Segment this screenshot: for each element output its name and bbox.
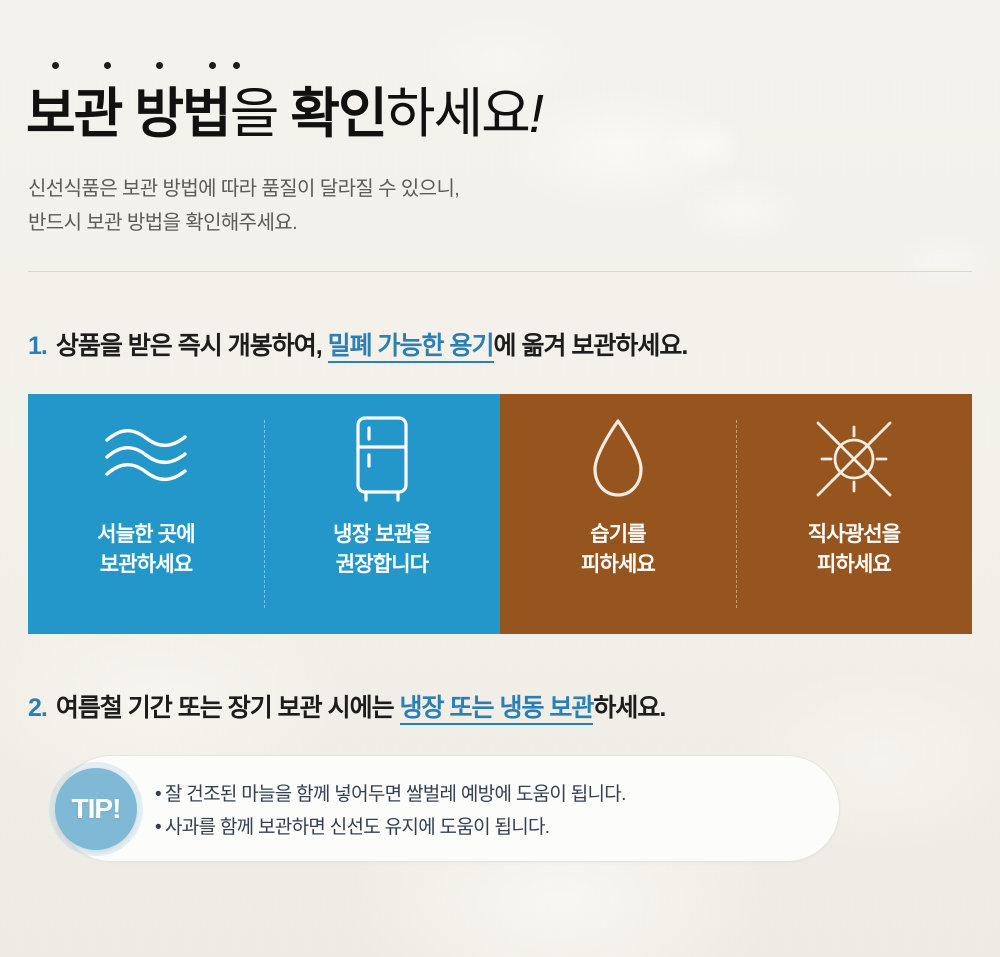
- step-2-highlight: 냉장 또는 냉동 보관: [400, 694, 594, 725]
- panel-avoid-humidity-label: 습기를 피하세요: [581, 520, 655, 580]
- panel-cool-place: 서늘한 곳에 보관하세요: [28, 394, 264, 634]
- tip-list-item: •사과를 함께 보관하면 신선도 유지에 도움이 됩니다.: [155, 811, 626, 844]
- decor-dot: [52, 62, 59, 69]
- refrigerator-icon: [350, 398, 414, 520]
- tip-item-text: 잘 건조된 마늘을 함께 넣어두면 쌀벌레 예방에 도움이 됩니다.: [165, 784, 626, 805]
- panel-refrigerate: 냉장 보관을 권장합니다: [264, 394, 500, 634]
- step-2-number: 2.: [28, 694, 47, 722]
- tip-badge-label: TIP!: [72, 793, 121, 825]
- panel-label-line-1: 서늘한 곳에: [97, 520, 195, 550]
- panel-label-line-1: 직사광선을: [808, 520, 901, 550]
- page-title-part-3: 확인: [290, 84, 385, 144]
- page-subtitle: 신선식품은 보관 방법에 따라 품질이 달라질 수 있으니, 반드시 보관 방법…: [28, 172, 459, 240]
- step-1: 1.상품을 받은 즉시 개봉하여, 밀폐 가능한 용기에 옮겨 보관하세요.: [28, 326, 687, 362]
- bullet-icon: •: [155, 784, 161, 805]
- panel-cool-place-label: 서늘한 곳에 보관하세요: [97, 520, 195, 580]
- storage-condition-panels: 서늘한 곳에 보관하세요 냉장 보관을 권장합니다: [28, 394, 972, 634]
- storage-guide-infographic: 보관 방법을 확인하세요! 신선식품은 보관 방법에 따라 품질이 달라질 수 …: [0, 0, 1000, 957]
- page-title-part-4: 하세요: [386, 84, 529, 144]
- panel-label-line-2: 권장합니다: [333, 550, 431, 580]
- page-title-part-1: 보관 방법: [26, 84, 230, 144]
- panel-avoid-sunlight: 직사광선을 피하세요: [736, 394, 972, 634]
- panel-avoid-humidity: 습기를 피하세요: [500, 394, 736, 634]
- step-1-highlight: 밀폐 가능한 용기: [328, 332, 494, 363]
- decor-dot: [209, 62, 216, 69]
- page-title-exclamation: !: [529, 84, 542, 144]
- panel-divider: [264, 420, 265, 608]
- panel-refrigerate-label: 냉장 보관을 권장합니다: [333, 520, 431, 580]
- tip-item-text: 사과를 함께 보관하면 신선도 유지에 도움이 됩니다.: [165, 817, 549, 838]
- step-1-text-pre: 상품을 받은 즉시 개봉하여,: [56, 332, 328, 360]
- step-2-text-post: 하세요.: [593, 694, 665, 722]
- panel-avoid-sunlight-label: 직사광선을 피하세요: [808, 520, 901, 580]
- no-sunlight-icon: [807, 398, 901, 520]
- panel-label-line-1: 냉장 보관을: [333, 520, 431, 550]
- decor-dot: [233, 62, 240, 69]
- decor-dot: [156, 62, 163, 69]
- subtitle-line-1: 신선식품은 보관 방법에 따라 품질이 달라질 수 있으니,: [28, 172, 459, 206]
- decor-dot: [104, 62, 111, 69]
- bullet-icon: •: [155, 817, 161, 838]
- decorative-dot-row: [52, 62, 252, 69]
- step-1-number: 1.: [28, 332, 47, 360]
- step-2: 2.여름철 기간 또는 장기 보관 시에는 냉장 또는 냉동 보관하세요.: [28, 688, 665, 724]
- panel-label-line-2: 보관하세요: [97, 550, 195, 580]
- subtitle-line-2: 반드시 보관 방법을 확인해주세요.: [28, 206, 459, 240]
- step-1-text-post: 에 옮겨 보관하세요.: [494, 332, 688, 360]
- header-divider: [28, 271, 972, 272]
- tip-badge: TIP!: [55, 768, 137, 850]
- page-title: 보관 방법을 확인하세요!: [26, 82, 542, 146]
- water-droplet-icon: [587, 398, 649, 520]
- panel-label-line-2: 피하세요: [581, 550, 655, 580]
- page-title-part-2: 을: [230, 84, 291, 144]
- wind-waves-icon: [101, 398, 191, 520]
- tip-list-item: •잘 건조된 마늘을 함께 넣어두면 쌀벌레 예방에 도움이 됩니다.: [155, 778, 626, 811]
- tip-list: •잘 건조된 마늘을 함께 넣어두면 쌀벌레 예방에 도움이 됩니다. •사과를…: [155, 778, 626, 844]
- panel-label-line-2: 피하세요: [808, 550, 901, 580]
- panel-label-line-1: 습기를: [581, 520, 655, 550]
- step-2-text-pre: 여름철 기간 또는 장기 보관 시에는: [56, 694, 400, 722]
- panel-divider: [736, 420, 737, 608]
